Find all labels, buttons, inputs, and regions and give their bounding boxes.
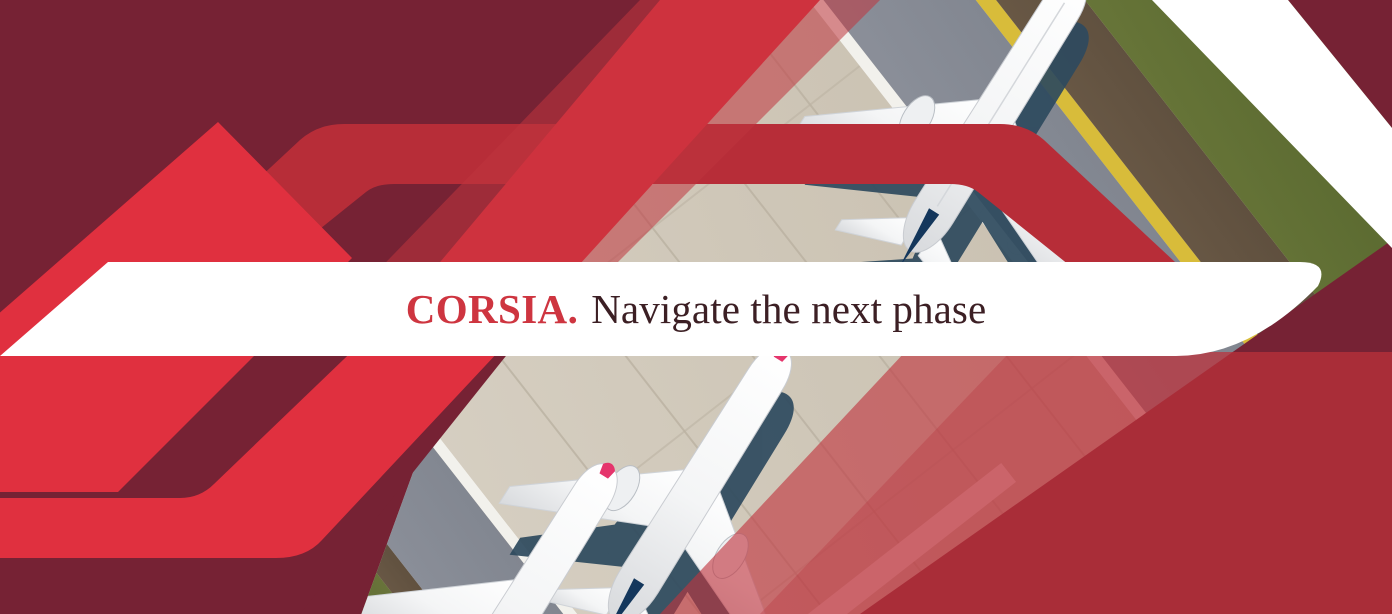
corsia-banner: CORSIA. Navigate the next phase [0,0,1392,614]
page-title: CORSIA. Navigate the next phase [0,262,1392,356]
headline-tagline: Navigate the next phase [591,285,986,333]
brand-name: CORSIA. [406,285,579,333]
